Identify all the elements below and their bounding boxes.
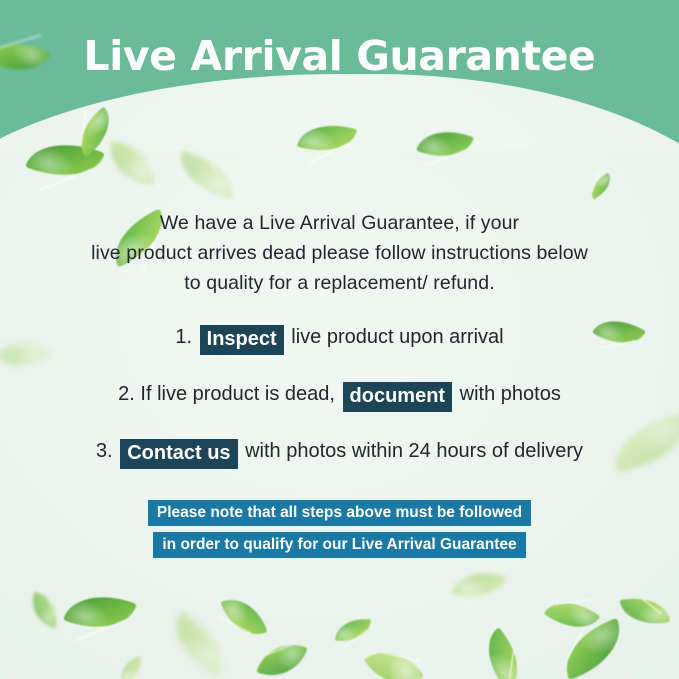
step-number-1: 1. — [175, 326, 192, 348]
leaf-vein — [133, 146, 154, 174]
step-after-3: with photos within 24 hours of delivery — [245, 440, 583, 462]
step-number-2: 2. — [118, 383, 135, 405]
leaf-vein — [266, 641, 298, 655]
step-before-2: If live product is dead, — [140, 383, 335, 405]
step-number-3: 3. — [96, 440, 113, 462]
step-item-3: 3. Contact us with photos within 24 hour… — [0, 434, 679, 469]
step-highlight-inspect: Inspect — [200, 325, 284, 355]
step-after-2: with photos — [460, 383, 561, 405]
leaf-blade — [335, 617, 371, 644]
notice-bar-1: Please note that all steps above must be… — [148, 500, 531, 526]
notice-row-1: Please note that all steps above must be… — [0, 500, 679, 532]
step-item-1: 1. Inspect live product upon arrival — [0, 320, 679, 355]
steps-list: 1. Inspect live product upon arrival 2. … — [0, 320, 679, 491]
notice-block: Please note that all steps above must be… — [0, 500, 679, 564]
leaf-icon — [107, 141, 156, 185]
step-item-2: 2. If live product is dead, document wit… — [0, 377, 679, 412]
notice-row-2: in order to qualify for our Live Arrival… — [0, 532, 679, 564]
step-after-1: live product upon arrival — [291, 326, 503, 348]
leaf-vein — [509, 650, 514, 678]
live-arrival-guarantee-card: Live Arrival Guarantee We have a Live Ar… — [0, 0, 679, 679]
leaf-vein — [206, 630, 214, 662]
leaf-vein — [130, 666, 142, 679]
leaf-blade — [107, 141, 156, 185]
leaf-icon — [335, 617, 371, 644]
page-title: Live Arrival Guarantee — [0, 30, 679, 82]
step-highlight-contact-us: Contact us — [120, 439, 237, 469]
intro-line-1: We have a Live Arrival Guarantee, if you… — [0, 208, 679, 238]
intro-line-2: live product arrives dead please follow … — [0, 238, 679, 268]
leaf-vein — [210, 161, 224, 187]
step-highlight-document: document — [343, 382, 453, 412]
notice-bar-2: in order to qualify for our Live Arrival… — [153, 532, 525, 558]
intro-line-3: to quality for a replacement/ refund. — [0, 268, 679, 298]
leaf-vein — [642, 598, 663, 615]
leaf-vein — [47, 597, 60, 620]
intro-paragraph: We have a Live Arrival Guarantee, if you… — [0, 208, 679, 298]
